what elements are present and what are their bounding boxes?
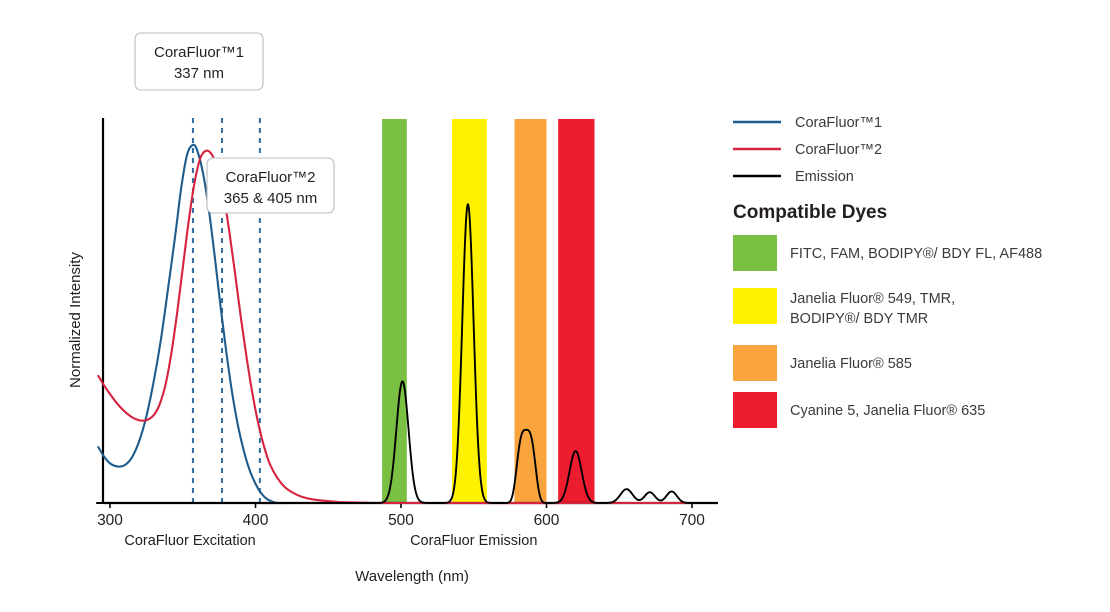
legend: CoraFluor™1CoraFluor™2Emission (733, 115, 882, 185)
spectra-chart: 300400500600700CoraFluor ExcitationCoraF… (0, 0, 1110, 612)
x-axis-title: Wavelength (nm) (355, 568, 469, 585)
region-label-1: CoraFluor Excitation (124, 533, 255, 549)
legend-label-2: CoraFluor™2 (795, 142, 882, 158)
dye-item-2: Janelia Fluor® 549, TMR,BODIPY®/ BDY TMR (733, 288, 955, 327)
x-tick-label-300: 300 (97, 512, 123, 529)
corafluor1-callout-line1: CoraFluor™1 (154, 44, 244, 61)
x-tick-label-600: 600 (534, 512, 560, 529)
dye-label-3: Janelia Fluor® 585 (790, 356, 912, 372)
dye-item-4: Cyanine 5, Janelia Fluor® 635 (733, 392, 985, 428)
legend-item-3: Emission (733, 169, 854, 185)
compatible-dyes-title: Compatible Dyes (733, 202, 887, 223)
corafluor1-callout: CoraFluor™1337 nm (135, 33, 263, 90)
compatible-dyes-panel: Compatible DyesFITC, FAM, BODIPY®/ BDY F… (733, 202, 1042, 428)
dye-swatch-2 (733, 288, 777, 324)
region-label-2: CoraFluor Emission (410, 533, 537, 549)
callout-boxes: CoraFluor™1337 nmCoraFluor™2365 & 405 nm (135, 33, 334, 213)
x-tick-label-400: 400 (243, 512, 269, 529)
color-bands (382, 119, 594, 503)
y-axis-title: Normalized Intensity (67, 252, 84, 388)
chart-root: 300400500600700CoraFluor ExcitationCoraF… (0, 0, 1110, 612)
dye-item-1: FITC, FAM, BODIPY®/ BDY FL, AF488 (733, 235, 1042, 271)
corafluor2-callout: CoraFluor™2365 & 405 nm (207, 158, 334, 213)
legend-label-1: CoraFluor™1 (795, 115, 882, 131)
corafluor1-callout-line2: 337 nm (174, 65, 224, 82)
legend-label-3: Emission (795, 169, 854, 185)
x-tick-label-500: 500 (388, 512, 414, 529)
dye-label-2-line2: BODIPY®/ BDY TMR (790, 311, 928, 327)
legend-item-2: CoraFluor™2 (733, 142, 882, 158)
corafluor2-callout-line2: 365 & 405 nm (224, 190, 317, 207)
dye-label-4: Cyanine 5, Janelia Fluor® 635 (790, 403, 985, 419)
emission-band-4 (558, 119, 594, 503)
dye-item-3: Janelia Fluor® 585 (733, 345, 912, 381)
legend-item-1: CoraFluor™1 (733, 115, 882, 131)
x-tick-label-700: 700 (679, 512, 705, 529)
dye-label-2: Janelia Fluor® 549, TMR, (790, 291, 955, 307)
dye-swatch-1 (733, 235, 777, 271)
corafluor2-callout-line1: CoraFluor™2 (225, 169, 315, 186)
dye-label-1: FITC, FAM, BODIPY®/ BDY FL, AF488 (790, 246, 1042, 262)
dye-swatch-4 (733, 392, 777, 428)
dye-swatch-3 (733, 345, 777, 381)
